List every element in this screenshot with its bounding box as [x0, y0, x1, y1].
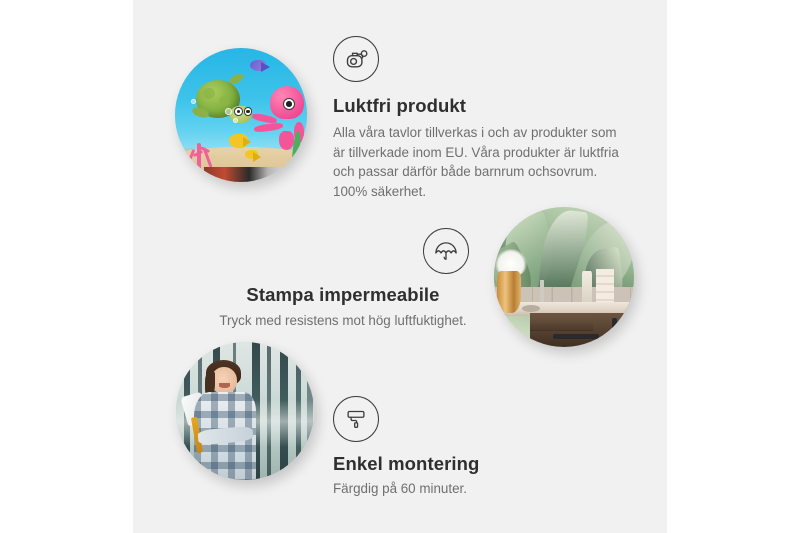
paint-roller-icon — [333, 396, 379, 442]
umbrella-icon — [423, 228, 469, 274]
gold-vase — [497, 271, 521, 313]
feature-title: Stampa impermeabile — [213, 284, 473, 306]
feature-title: Enkel montering — [333, 453, 593, 475]
forest-scene — [176, 342, 314, 480]
person-smile — [219, 383, 230, 387]
soap-dispenser — [582, 271, 592, 305]
feature-description: Tryck med resistens mot hög luftfuktighe… — [213, 311, 473, 331]
turtle-eye-right — [244, 107, 253, 116]
feature-icon-wrap — [213, 228, 473, 274]
promo-infographic: Luktfri produkt Alla våra tavlor tillver… — [0, 0, 800, 533]
underwater-scene — [175, 48, 307, 182]
feature-waterproof-print: Stampa impermeabile Tryck med resistens … — [213, 228, 473, 331]
foreground-strip — [204, 167, 286, 182]
feature-easy-mounting: Enkel montering Färgdig på 60 minuter. — [333, 396, 593, 499]
wooden-vanity — [530, 313, 634, 347]
feature-odourless: Luktfri produkt Alla våra tavlor tillver… — [333, 36, 625, 201]
photo-bathroom-botanical-wallpaper — [494, 207, 634, 347]
yellow-fish — [229, 134, 247, 149]
faucet — [540, 280, 544, 302]
blue-fish — [250, 60, 266, 71]
photo-woman-with-paint-roller-forest — [176, 342, 314, 480]
soap-dish — [522, 305, 540, 312]
turtle-eye-left — [234, 107, 243, 116]
yellow-fish — [245, 150, 258, 159]
cabinet-handle — [612, 318, 617, 334]
drawer-handle — [553, 334, 599, 339]
coral — [186, 135, 226, 170]
octopus-tentacle — [279, 131, 294, 150]
perfume-bottle-no-odour-icon — [333, 36, 379, 82]
bubble-icon — [225, 108, 231, 115]
photo-underwater-kids-mural — [175, 48, 307, 182]
vanity-drawer — [530, 317, 592, 330]
feature-title: Luktfri produkt — [333, 95, 625, 117]
bathroom-scene — [494, 207, 634, 347]
feature-description: Färgdig på 60 minuter. — [333, 479, 593, 499]
feature-description: Alla våra tavlor tillverkas i och av pro… — [333, 123, 625, 201]
